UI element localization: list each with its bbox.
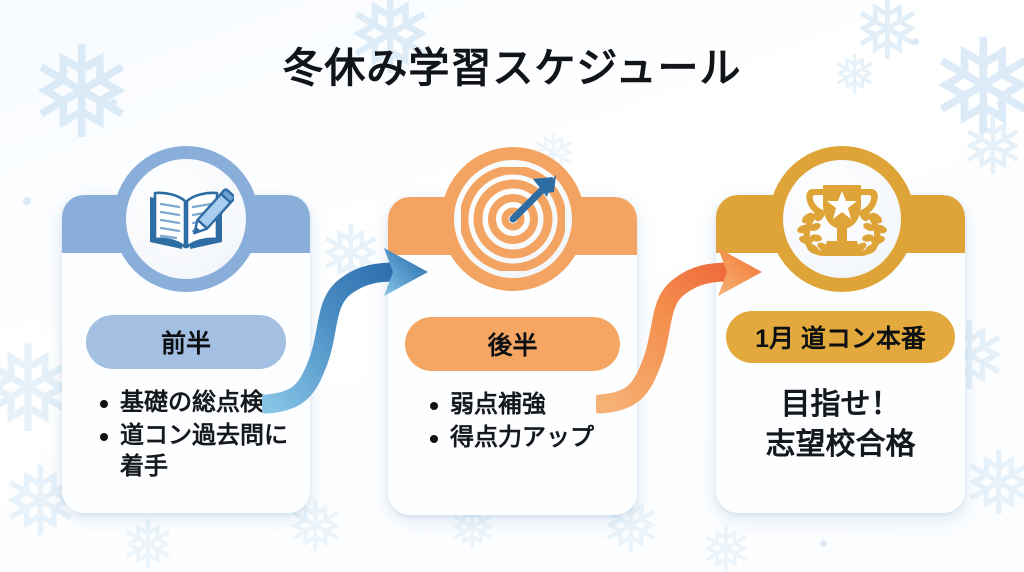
badge-exam-day bbox=[769, 146, 915, 292]
list-item: 弱点補強 bbox=[424, 389, 623, 420]
badge-inner-disc bbox=[454, 160, 572, 278]
goal-text-line-1: 目指せ！ bbox=[726, 385, 955, 425]
card-content: 前半 基礎の総点検 道コン過去問に着手 bbox=[62, 315, 310, 485]
snowflake-icon: ❅ bbox=[318, 215, 383, 293]
page-title: 冬休み学習スケジュール bbox=[0, 34, 1024, 94]
card-content: 後半 弱点補強 得点力アップ bbox=[388, 317, 637, 455]
snowflake-icon: ❅ bbox=[120, 512, 175, 572]
card-pill-label: 1月 道コン本番 bbox=[726, 311, 955, 363]
badge-second-half bbox=[441, 147, 585, 291]
snow-dot-icon bbox=[997, 100, 1005, 108]
card-bullet-list: 弱点補強 得点力アップ bbox=[402, 389, 623, 453]
snow-dot-icon bbox=[820, 540, 827, 547]
card-pill-label: 後半 bbox=[405, 317, 620, 371]
badge-inner-disc bbox=[783, 160, 901, 278]
snowflake-icon: ❅ bbox=[962, 440, 1024, 528]
goal-text-line-2: 志望校合格 bbox=[726, 425, 955, 465]
card-pill-label: 前半 bbox=[86, 315, 286, 369]
badge-inner-disc bbox=[126, 159, 246, 279]
snowflake-icon: ❅ bbox=[960, 108, 1024, 186]
snow-dot-icon bbox=[23, 197, 31, 205]
trophy-with-laurel-icon bbox=[791, 171, 893, 267]
card-content: 1月 道コン本番 目指せ！ 志望校合格 bbox=[716, 311, 965, 464]
snowflake-icon: ❅ bbox=[700, 520, 752, 572]
target-with-arrow-icon bbox=[461, 167, 565, 271]
list-item: 道コン過去問に着手 bbox=[94, 420, 296, 482]
list-item: 得点力アップ bbox=[424, 422, 623, 453]
infographic-canvas: ❅ ❅ ❅ ❅ ❅ ❅ ❅ ❅ ❅ ❅ ❅ ❅ ❅ ❅ ❅ ❅ ❅ ❅ ❅ ❅ … bbox=[0, 0, 1024, 572]
open-book-with-pencil-icon bbox=[138, 171, 234, 267]
snow-dot-icon bbox=[110, 99, 117, 106]
card-bullet-list: 基礎の総点検 道コン過去問に着手 bbox=[76, 387, 296, 483]
badge-first-half bbox=[113, 146, 259, 292]
list-item: 基礎の総点検 bbox=[94, 387, 296, 418]
